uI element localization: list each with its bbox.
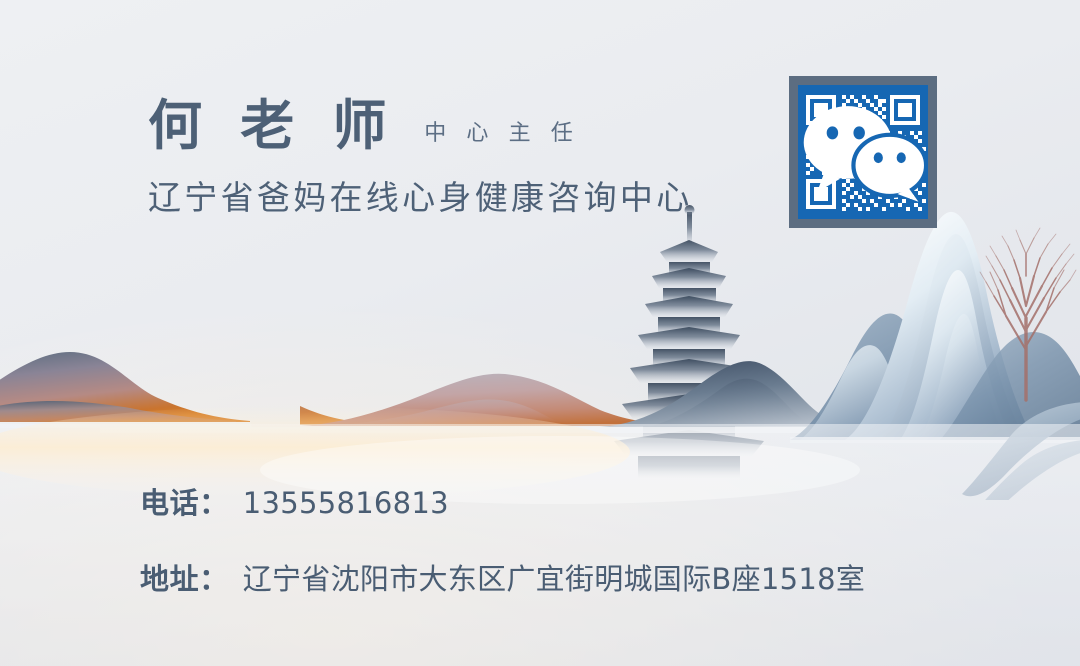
person-role: 中 心 主 任 [424, 115, 579, 155]
organization-name: 辽宁省爸妈在线心身健康咨询中心 [148, 171, 693, 219]
wechat-qr-frame[interactable] [789, 76, 937, 228]
address-value: 辽宁省沈阳市大东区广宜街明城国际B座1518室 [243, 556, 865, 598]
phone-line: 电话： 13555816813 [140, 480, 865, 522]
contact-block: 电话： 13555816813 地址： 辽宁省沈阳市大东区广宜街明城国际B座15… [140, 480, 865, 598]
wechat-bubbles-icon [798, 85, 928, 219]
blue-peaks-right [790, 212, 1080, 440]
phone-label: 电话： [140, 480, 229, 522]
business-card: 何 老 师 中 心 主 任 辽宁省爸妈在线心身健康咨询中心 电话： 135558… [0, 0, 1080, 666]
person-name: 何 老 师 [148, 98, 396, 155]
address-line: 地址： 辽宁省沈阳市大东区广宜街明城国际B座1518室 [140, 556, 865, 598]
wechat-qr-code[interactable] [798, 85, 928, 219]
identity-block: 何 老 师 中 心 主 任 辽宁省爸妈在线心身健康咨询中心 [148, 98, 693, 219]
name-row: 何 老 师 中 心 主 任 [148, 98, 693, 155]
phone-value[interactable]: 13555816813 [243, 486, 449, 520]
address-label: 地址： [140, 556, 229, 598]
